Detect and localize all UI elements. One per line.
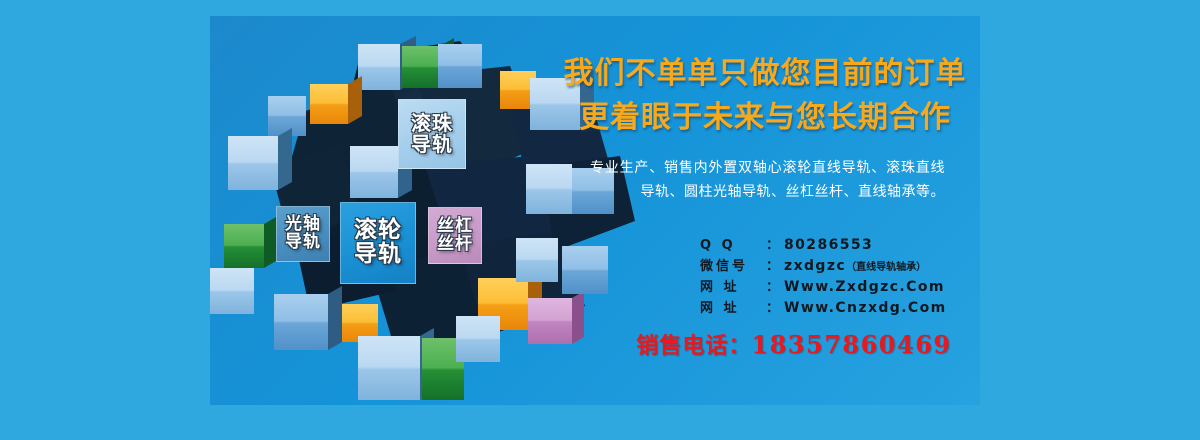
product-cube-roller-rail[interactable]: 滚轮 导轨	[340, 202, 416, 284]
product-cube-line1: 滚珠	[411, 113, 453, 134]
contact-value-wechat: zxdgzc	[784, 258, 846, 274]
contact-label: 网 址	[700, 276, 766, 295]
product-cube-line2: 丝杆	[437, 236, 473, 254]
product-cube-shaft-rail[interactable]: 光轴 导轨	[276, 206, 330, 262]
contact-row-wechat: 微信号 ： zxdgzc （直线导轨轴承）	[700, 255, 980, 276]
contact-value-qq: 80286553	[784, 237, 873, 253]
contact-info-list: Q Q ： 80286553 微信号 ： zxdgzc （直线导轨轴承） 网 址…	[700, 234, 980, 318]
contact-label: 微信号	[700, 255, 766, 274]
contact-colon: ：	[766, 255, 779, 274]
product-cube-lead-screw[interactable]: 丝杠 丝杆	[428, 207, 482, 264]
sales-phone: 销售电话： 18357860469	[608, 328, 980, 360]
headline-line-2: 更着眼于未来与您长期合作	[550, 98, 980, 138]
contact-row-website-2[interactable]: 网 址 ： Www.Cnzxdg.Com	[700, 297, 980, 318]
product-cube-line1: 丝杠	[437, 218, 473, 236]
contact-value-website-2[interactable]: Www.Cnzxdg.Com	[784, 300, 947, 316]
contact-value-website-1[interactable]: Www.Zxdgzc.Com	[784, 279, 945, 295]
banner-text-column: 我们不单单只做您目前的订单 更着眼于未来与您长期合作 专业生产、销售内外置双轴心…	[550, 16, 980, 405]
contact-row-qq: Q Q ： 80286553	[700, 234, 980, 255]
product-cube-line2: 导轨	[285, 234, 321, 252]
sales-phone-number: 18357860469	[751, 330, 951, 359]
contact-colon: ：	[766, 276, 779, 295]
contact-colon: ：	[766, 234, 779, 253]
promo-banner: 滚珠 导轨 光轴 导轨 滚轮 导轨 丝杠 丝杆 我们不单单只做您目前的订单 更着…	[0, 0, 1200, 440]
product-cube-ball-rail[interactable]: 滚珠 导轨	[398, 99, 466, 169]
contact-label: 网 址	[700, 297, 766, 316]
contact-row-website-1[interactable]: 网 址 ： Www.Zxdgzc.Com	[700, 276, 980, 297]
product-cube-line2: 导轨	[411, 134, 453, 155]
banner-panel: 滚珠 导轨 光轴 导轨 滚轮 导轨 丝杠 丝杆 我们不单单只做您目前的订单 更着…	[210, 16, 980, 405]
contact-note-wechat: （直线导轨轴承）	[846, 258, 926, 273]
product-cube-line1: 滚轮	[354, 219, 402, 243]
contact-label: Q Q	[700, 238, 766, 253]
sales-phone-label: 销售电话：	[636, 328, 751, 360]
contact-colon: ：	[766, 297, 779, 316]
headline-line-1: 我们不单单只做您目前的订单	[550, 54, 980, 94]
product-cube-line2: 导轨	[354, 243, 402, 267]
company-description: 专业生产、销售内外置双轴心滚轮直线导轨、滚珠直线导轨、圆柱光轴导轨、丝杠丝杆、直…	[590, 156, 945, 204]
